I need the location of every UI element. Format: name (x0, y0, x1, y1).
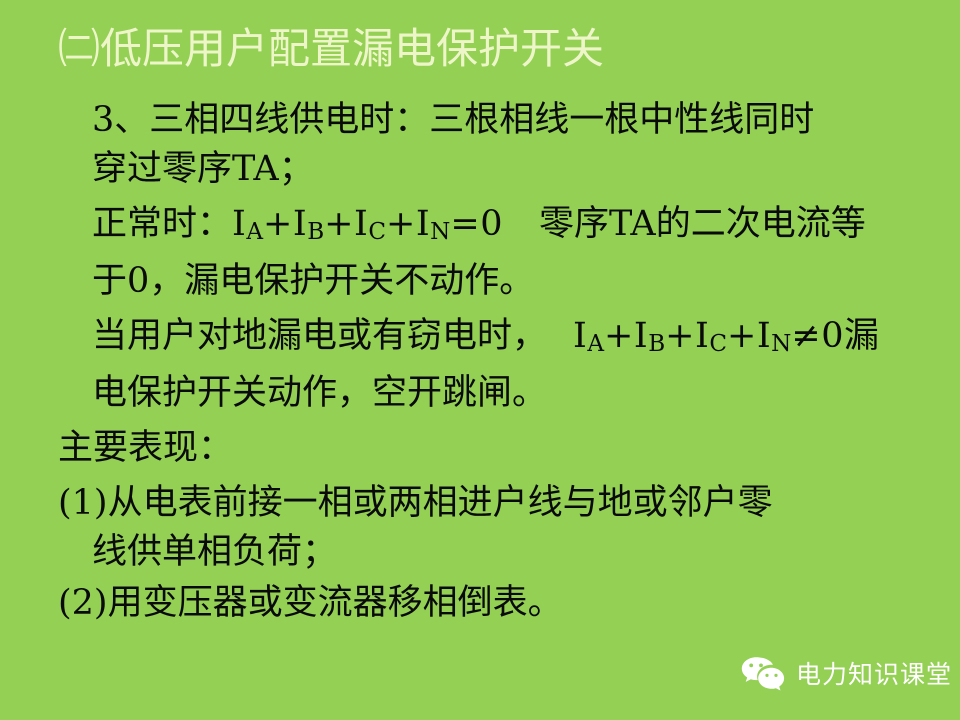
formula-sub-a: A (246, 219, 263, 245)
body-paragraph-3: 当用户对地漏电或有窃电时，IA+IB+IC+IN≠0漏 电保护开关动作，空开跳闸… (58, 312, 938, 418)
paragraph-1-lead: 3、 (92, 100, 149, 140)
formula-sub-c: C (368, 219, 386, 245)
paragraph-3-line-2: 电保护开关动作，空开跳闸。 (92, 369, 938, 418)
paragraph-1-line-1: 3、三相四线供电时：三根相线一根中性线同时 (92, 96, 938, 145)
body-paragraph-4: (1)从电表前接一相或两相进户线与地或邻户零 线供单相负荷； (58, 479, 938, 577)
formula2-i3: +I (665, 316, 709, 356)
formula2-sub-n: N (771, 331, 791, 357)
watermark: 电力知识课堂 (740, 652, 952, 698)
formula-leakage: IA+IB+IC+IN≠0 (573, 316, 844, 356)
paragraph-3-line-1: 当用户对地漏电或有窃电时，IA+IB+IC+IN≠0漏 (92, 312, 938, 369)
slide-canvas: ㈡低压用户配置漏电保护开关 3、三相四线供电时：三根相线一根中性线同时 穿过零序… (0, 0, 960, 720)
paragraph-2-line-1: 正常时：IA+IB+IC+IN=0零序TA的二次电流等 (92, 200, 938, 257)
formula-i1: I (232, 204, 246, 244)
paragraph-2-tail: 零序TA的二次电流等 (539, 204, 866, 244)
formula2-i2: +I (604, 316, 648, 356)
body-subheading: 主要表现： (58, 424, 938, 473)
page-title: ㈡低压用户配置漏电保护开关 (58, 22, 604, 76)
formula2-sub-c: C (709, 331, 727, 357)
body-paragraph-1: 3、三相四线供电时：三根相线一根中性线同时 穿过零序TA； (58, 96, 938, 194)
paragraph-2-line-2: 于0，漏电保护开关不动作。 (92, 257, 938, 306)
slide-body: 3、三相四线供电时：三根相线一根中性线同时 穿过零序TA； 正常时：IA+IB+… (58, 96, 938, 631)
body-paragraph-2: 正常时：IA+IB+IC+IN=0零序TA的二次电流等 于0，漏电保护开关不动作… (58, 200, 938, 306)
paragraph-1-text-1: 三相四线供电时：三根相线一根中性线同时 (149, 100, 814, 140)
formula-sub-n: N (430, 219, 450, 245)
formula-i4: +I (386, 204, 430, 244)
paragraph-4-line-1: (1)从电表前接一相或两相进户线与地或邻户零 (58, 479, 938, 528)
paragraph-2-prefix: 正常时： (92, 204, 232, 244)
formula2-sub-b: B (648, 331, 665, 357)
paragraph-4-line-2: 线供单相负荷； (58, 528, 938, 577)
formula-i2: +I (263, 204, 307, 244)
paragraph-1-line-2: 穿过零序TA； (92, 145, 938, 194)
formula-sub-b: B (307, 219, 324, 245)
paragraph-5-line-1: (2)用变压器或变流器移相倒表。 (58, 579, 938, 628)
watermark-text: 电力知识课堂 (796, 660, 952, 690)
formula-i3: +I (324, 204, 368, 244)
formula2-i1: I (573, 316, 587, 356)
wechat-icon (740, 656, 786, 694)
paragraph-3-prefix: 当用户对地漏电或有窃电时， (92, 316, 547, 356)
formula-normal: IA+IB+IC+IN=0 (232, 204, 503, 244)
formula2-notequals: ≠0 (791, 316, 844, 356)
formula2-i4: +I (727, 316, 771, 356)
paragraph-3-tail: 漏 (844, 316, 879, 356)
formula2-sub-a: A (587, 331, 604, 357)
body-paragraph-5: (2)用变压器或变流器移相倒表。 (58, 579, 938, 628)
formula-equals: =0 (450, 204, 503, 244)
